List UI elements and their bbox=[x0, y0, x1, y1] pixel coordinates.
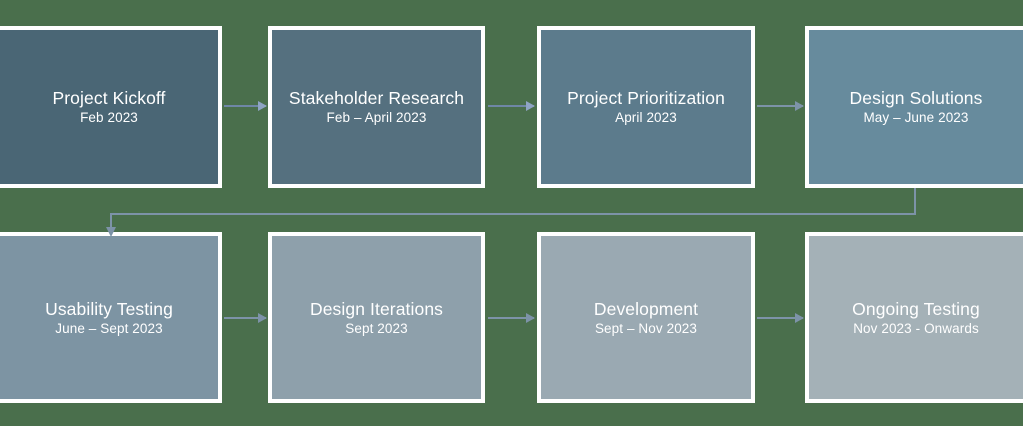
arrow-icon-design-to-usability bbox=[106, 227, 116, 237]
step-box-development[interactable]: Development Sept – Nov 2023 bbox=[537, 232, 755, 403]
step-date: Nov 2023 - Onwards bbox=[853, 320, 979, 337]
step-box-project-kickoff[interactable]: Project Kickoff Feb 2023 bbox=[0, 26, 222, 188]
arrow-icon-kickoff-to-stakeholder bbox=[224, 105, 266, 107]
arrow-icon-iterations-to-development bbox=[488, 317, 534, 319]
arrow-icon-usability-to-iterations bbox=[224, 317, 266, 319]
step-title: Stakeholder Research bbox=[289, 88, 464, 109]
connector-segment-vertical-right bbox=[914, 188, 916, 215]
step-box-stakeholder-research[interactable]: Stakeholder Research Feb – April 2023 bbox=[268, 26, 485, 188]
step-box-ongoing-testing[interactable]: Ongoing Testing Nov 2023 - Onwards bbox=[805, 232, 1023, 403]
step-title: Design Iterations bbox=[310, 299, 443, 320]
step-title: Design Solutions bbox=[850, 88, 983, 109]
step-title: Project Prioritization bbox=[567, 88, 725, 109]
arrow-icon-prioritization-to-design bbox=[757, 105, 803, 107]
step-date: Feb 2023 bbox=[80, 109, 138, 126]
step-box-design-solutions[interactable]: Design Solutions May – June 2023 bbox=[805, 26, 1023, 188]
step-box-design-iterations[interactable]: Design Iterations Sept 2023 bbox=[268, 232, 485, 403]
step-title: Ongoing Testing bbox=[852, 299, 980, 320]
step-title: Project Kickoff bbox=[52, 88, 165, 109]
step-title: Usability Testing bbox=[45, 299, 173, 320]
step-date: Feb – April 2023 bbox=[327, 109, 427, 126]
step-date: Sept – Nov 2023 bbox=[595, 320, 697, 337]
step-box-project-prioritization[interactable]: Project Prioritization April 2023 bbox=[537, 26, 755, 188]
process-flow-diagram: Project Kickoff Feb 2023 Stakeholder Res… bbox=[0, 0, 1023, 426]
step-date: April 2023 bbox=[615, 109, 677, 126]
arrow-icon-development-to-ongoing bbox=[757, 317, 803, 319]
step-date: Sept 2023 bbox=[345, 320, 407, 337]
arrow-icon-stakeholder-to-prioritization bbox=[488, 105, 534, 107]
step-title: Development bbox=[594, 299, 698, 320]
step-date: May – June 2023 bbox=[863, 109, 968, 126]
step-date: June – Sept 2023 bbox=[55, 320, 162, 337]
step-box-usability-testing[interactable]: Usability Testing June – Sept 2023 bbox=[0, 232, 222, 403]
connector-segment-horizontal bbox=[110, 213, 916, 215]
